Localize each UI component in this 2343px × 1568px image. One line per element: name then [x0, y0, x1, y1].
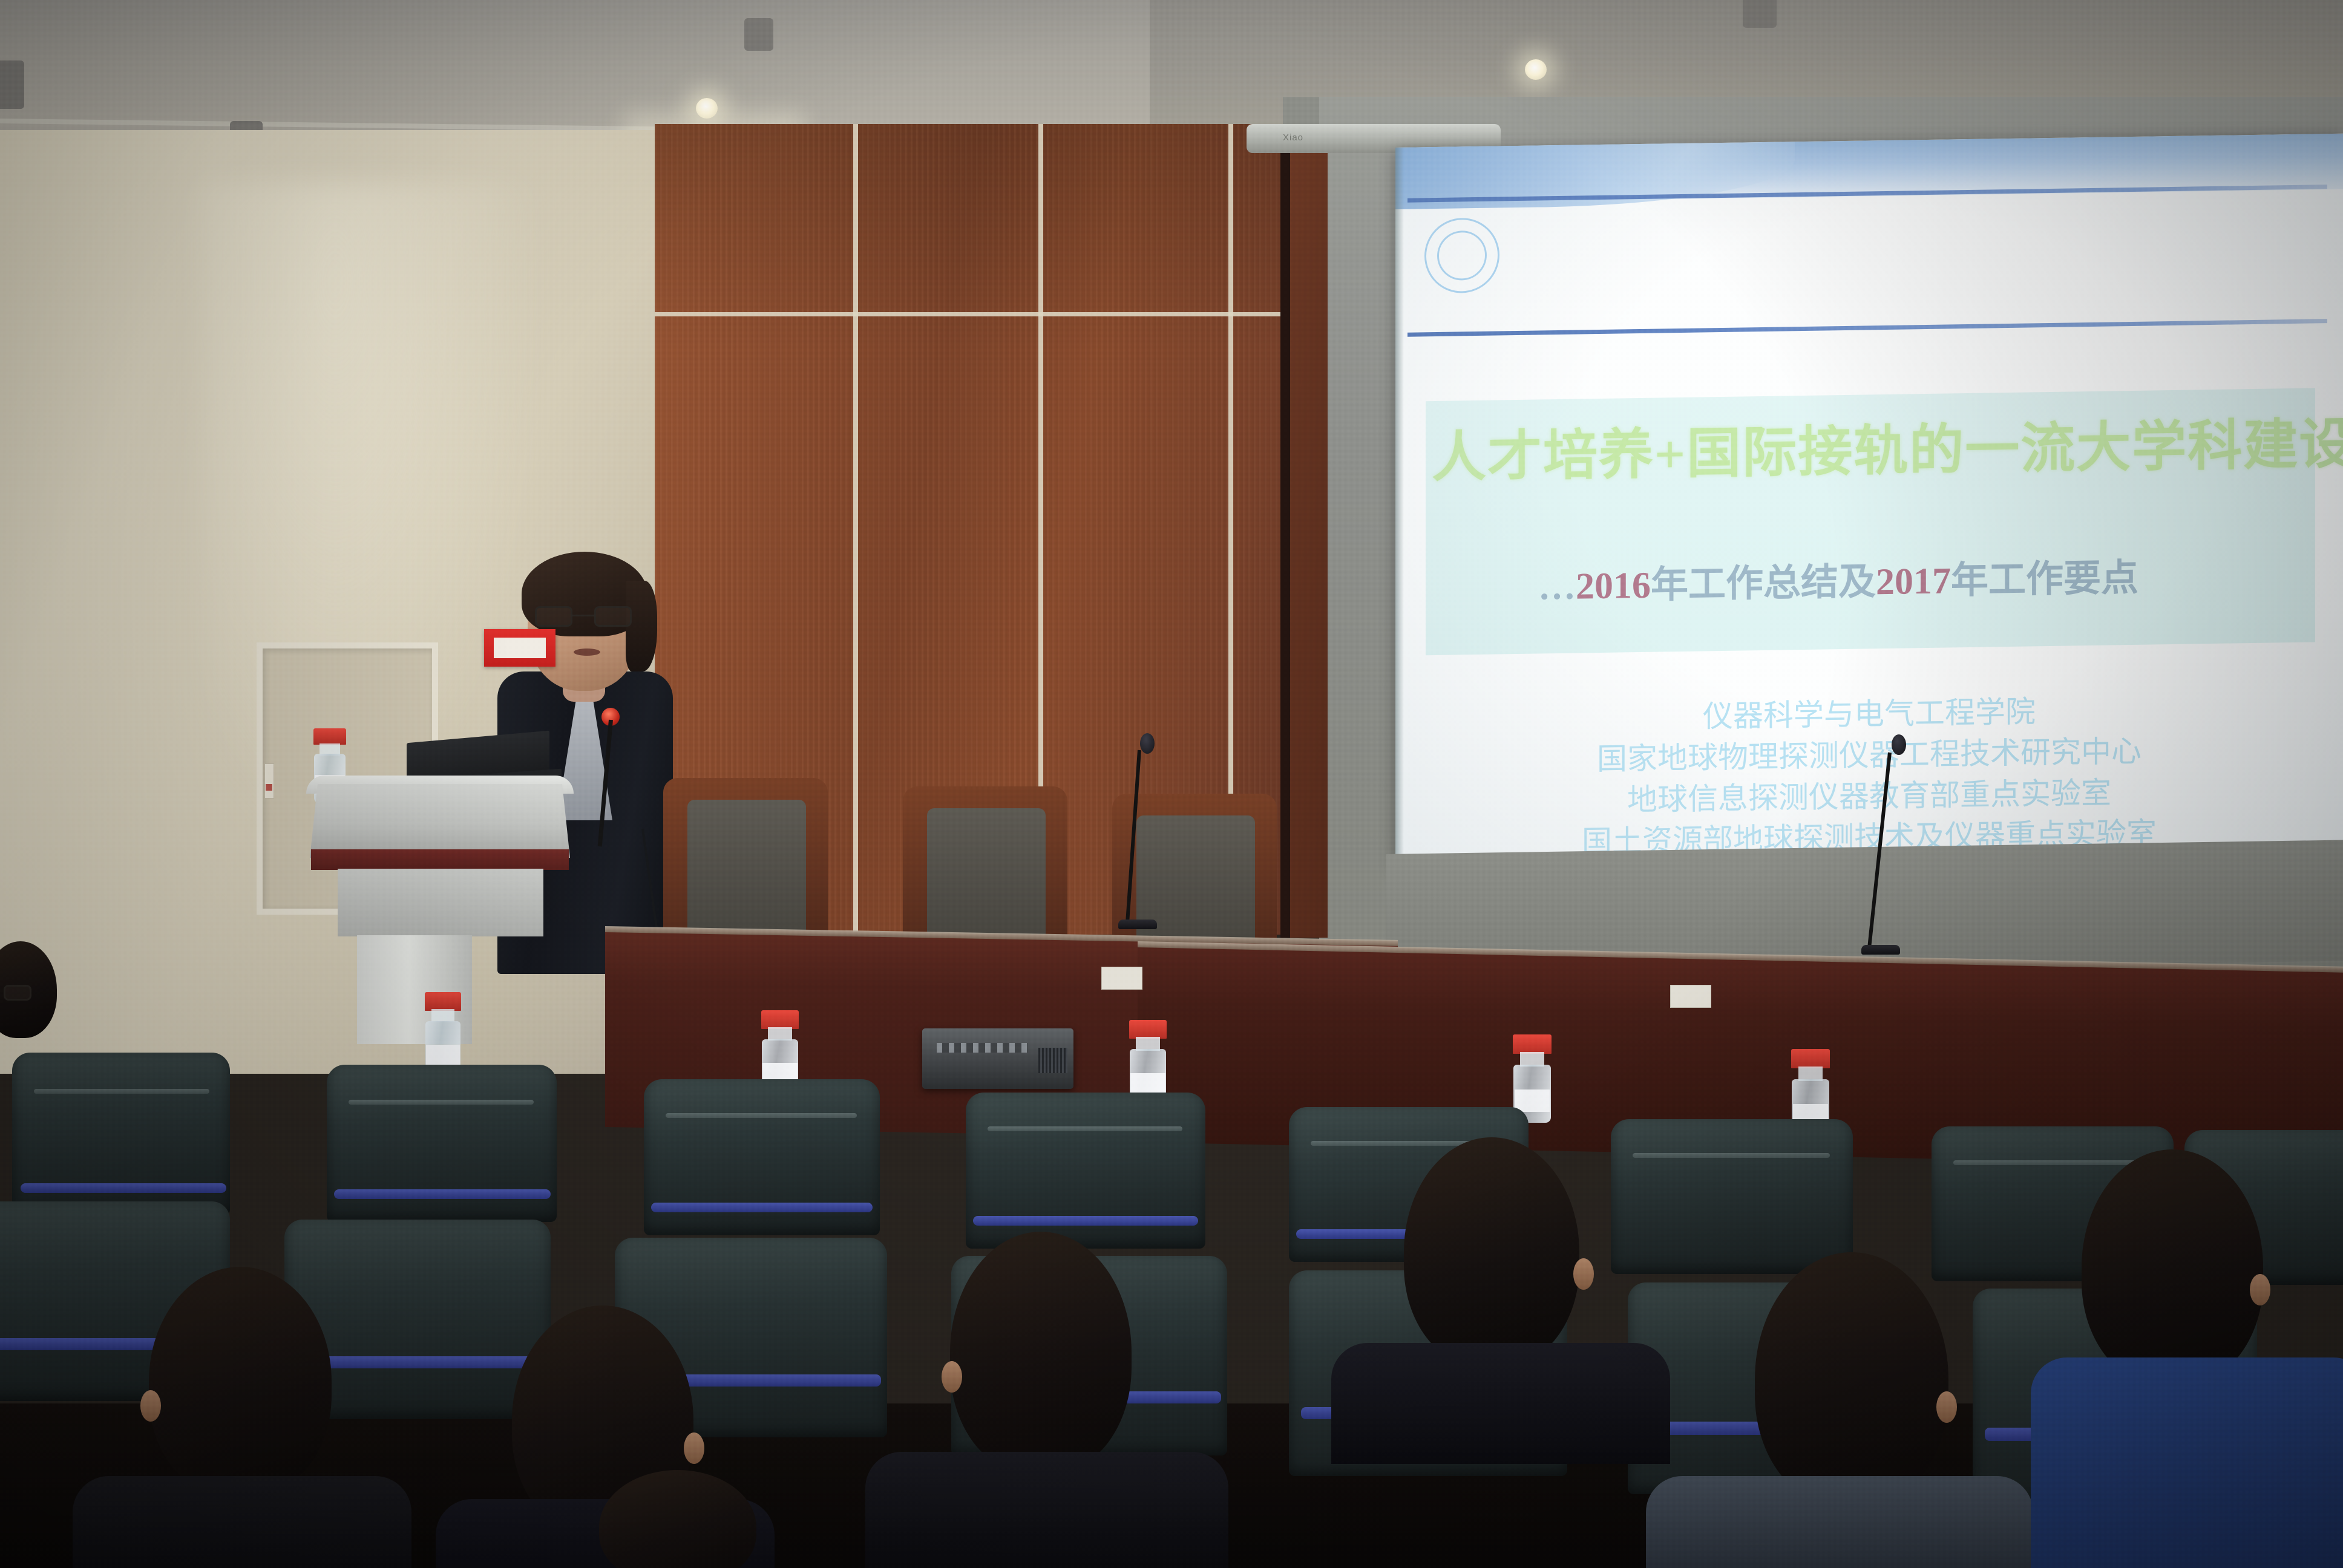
- audience-ear-3: [942, 1361, 962, 1393]
- screen-left-shadow: [1395, 148, 1404, 867]
- table-microphone-head[interactable]: [1892, 734, 1906, 755]
- bottle-cap: [425, 992, 461, 1011]
- audience-shoulders-3: [865, 1452, 1228, 1568]
- seat-highlight: [666, 1113, 857, 1118]
- water-bottle-table-5[interactable]: [425, 992, 461, 1077]
- seat-trim-band: [297, 1356, 545, 1368]
- seat-highlight: [34, 1089, 209, 1094]
- stage-microphone-base: [1118, 920, 1157, 929]
- podium-front: [310, 784, 570, 858]
- stage-chair-2-pad: [927, 808, 1046, 947]
- spotlight-fixture-1: [0, 60, 24, 109]
- podium-accent-stripe: [311, 849, 569, 870]
- glasses-lens-right: [594, 606, 632, 627]
- projector-port-panel: [937, 1043, 1027, 1053]
- audience-head-4: [1404, 1137, 1579, 1367]
- table-name-plate-1: [1101, 967, 1142, 990]
- audience-ear-6: [2250, 1274, 2270, 1305]
- auditorium-photo: Xiao 人才培养+国际接轨的一流大学科建设 …2016年工作总结及2017年工…: [0, 0, 2343, 1568]
- glasses-lens-left: [535, 606, 572, 627]
- bottle-cap: [1791, 1049, 1830, 1068]
- podium-base: [338, 869, 543, 936]
- bottle-cap: [761, 1010, 799, 1029]
- ceiling-light-2: [1525, 59, 1547, 80]
- projection-screen: 人才培养+国际接轨的一流大学科建设 …2016年工作总结及2017年工作要点 仪…: [1395, 134, 2343, 867]
- audience-ear-1: [140, 1390, 161, 1422]
- audience-head-1: [149, 1267, 332, 1497]
- stage-microphone-head[interactable]: [1140, 733, 1155, 754]
- stage-chair-1-pad: [687, 800, 806, 942]
- audience-seat-r1-6[interactable]: [1611, 1119, 1853, 1274]
- slide-subtitle-prefix: …: [1538, 566, 1576, 608]
- audience-head-6: [2082, 1149, 2263, 1385]
- seat-highlight: [988, 1126, 1182, 1131]
- spotlight-fixture-3: [1743, 0, 1777, 28]
- panel-seam-v1: [853, 124, 858, 935]
- seat-highlight: [1633, 1153, 1830, 1158]
- slide-subtitle-mid: 年工作总结及: [1651, 561, 1876, 606]
- slide-title: 人才培养+国际接轨的一流大学科建设: [1432, 400, 2315, 492]
- glasses-lens-right: [4, 985, 31, 1001]
- audience-shoulders-5: [1646, 1476, 2033, 1568]
- light-switch[interactable]: [264, 763, 274, 799]
- audience-shoulders-6-blue-jacket: [2031, 1357, 2343, 1568]
- seat-trim-band: [651, 1203, 873, 1212]
- bottle-label: [1515, 1089, 1550, 1112]
- panel-seam-h1: [655, 312, 1290, 316]
- audience-glasses-far-left: [0, 985, 40, 1001]
- slide-subtitle-year-2: 2017: [1876, 560, 1951, 603]
- speaker-glasses: [535, 606, 632, 627]
- bottle-cap: [1513, 1034, 1552, 1054]
- projector-vent: [1038, 1048, 1067, 1073]
- bottle-cap: [1129, 1020, 1167, 1039]
- seat-trim-band: [973, 1216, 1198, 1226]
- slide-subtitle: …2016年工作总结及2017年工作要点: [1538, 544, 2325, 610]
- table-name-plate-2: [1670, 985, 1711, 1008]
- seat-highlight: [349, 1100, 534, 1105]
- speaker-mouth: [574, 648, 600, 656]
- stage-chair-3-pad: [1136, 815, 1255, 952]
- audience-ear-5: [1936, 1391, 1957, 1423]
- audience-ear-4: [1573, 1258, 1594, 1290]
- light-switch-indicator: [266, 784, 272, 791]
- wood-panel-right-strip: [1290, 124, 1328, 938]
- table-microphone-base: [1861, 945, 1900, 955]
- audience-shoulders-1: [73, 1476, 411, 1568]
- slide-subtitle-year-1: 2016: [1576, 565, 1651, 607]
- seat-trim-band: [334, 1189, 551, 1199]
- slide-subtitle-tail: 年工作要点: [1951, 558, 2138, 602]
- bottle-cap: [313, 728, 346, 745]
- audience-head-5: [1755, 1252, 1948, 1506]
- seat-trim-band: [21, 1183, 226, 1193]
- slide-header-rule-bottom: [1407, 319, 2327, 337]
- bottle-label: [426, 1045, 459, 1067]
- spotlight-fixture-2: [744, 18, 773, 51]
- audience-ear-2: [684, 1432, 704, 1464]
- audience-head-3: [950, 1232, 1132, 1474]
- seat-highlight: [1953, 1160, 2151, 1165]
- audience-shoulders-4: [1331, 1343, 1670, 1464]
- glasses-bridge: [572, 615, 594, 616]
- name-card-inner-panel: [494, 638, 546, 658]
- university-seal-logo: [1424, 217, 1499, 293]
- screen-roller-label: Xiao: [1283, 132, 1303, 143]
